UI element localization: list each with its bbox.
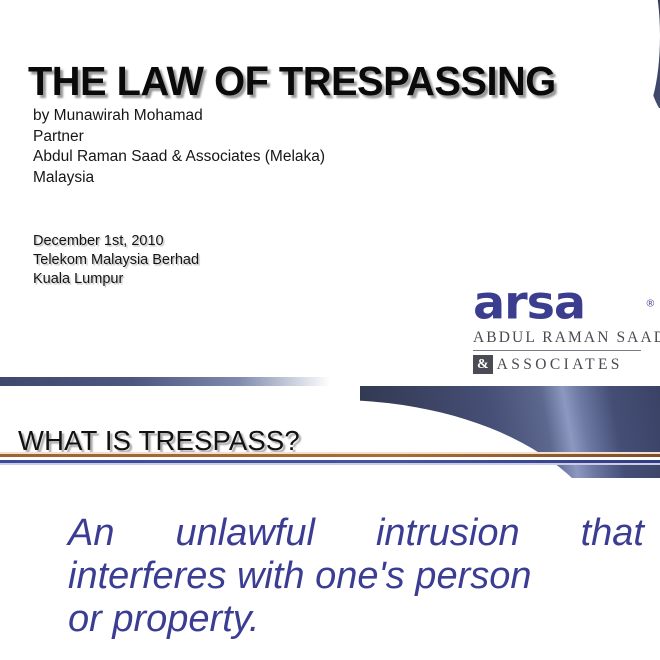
arsa-wordmark-text: arsa xyxy=(473,276,585,330)
logo-firm-name: ABDUL RAMAN SAAD xyxy=(473,329,641,351)
divider-blue-soft-rule xyxy=(0,463,660,465)
logo-ampersand-badge: & xyxy=(473,355,493,374)
event-host: Telekom Malaysia Berhad xyxy=(33,251,199,270)
slide-deck: THE LAW OF TRESPASSING by Munawirah Moha… xyxy=(0,0,660,660)
author-firm: Abdul Raman Saad & Associates (Melaka) xyxy=(33,147,325,168)
arsa-wordmark: arsa® xyxy=(473,283,651,324)
presentation-title: THE LAW OF TRESPASSING xyxy=(28,58,556,105)
arsa-logo: arsa® ABDUL RAMAN SAAD & ASSOCIATES xyxy=(473,283,641,374)
author-block: by Munawirah Mohamad Partner Abdul Raman… xyxy=(33,106,325,188)
logo-associates-text: ASSOCIATES xyxy=(497,356,623,374)
event-date: December 1st, 2010 xyxy=(33,232,199,251)
event-block: December 1st, 2010 Telekom Malaysia Berh… xyxy=(33,232,199,289)
logo-associates-row: & ASSOCIATES xyxy=(473,355,641,374)
slide2-divider xyxy=(0,452,660,466)
author-role: Partner xyxy=(33,127,325,148)
title-slide: THE LAW OF TRESPASSING by Munawirah Moha… xyxy=(0,0,660,386)
author-name: by Munawirah Mohamad xyxy=(33,106,325,127)
slide2-body-line-1: An unlawful intrusion that xyxy=(68,512,644,555)
swoosh-base-strip xyxy=(0,377,330,386)
event-location: Kuala Lumpur xyxy=(33,270,199,289)
slide2-body-line-2: interferes with one's person xyxy=(68,555,644,598)
author-country: Malaysia xyxy=(33,168,325,189)
top-right-accent-graphic xyxy=(634,0,660,108)
slide2-body-line-3: or property. xyxy=(68,598,644,641)
slide2-body-text: An unlawful intrusion that interferes wi… xyxy=(68,512,644,641)
registered-trademark-icon: ® xyxy=(646,284,654,325)
